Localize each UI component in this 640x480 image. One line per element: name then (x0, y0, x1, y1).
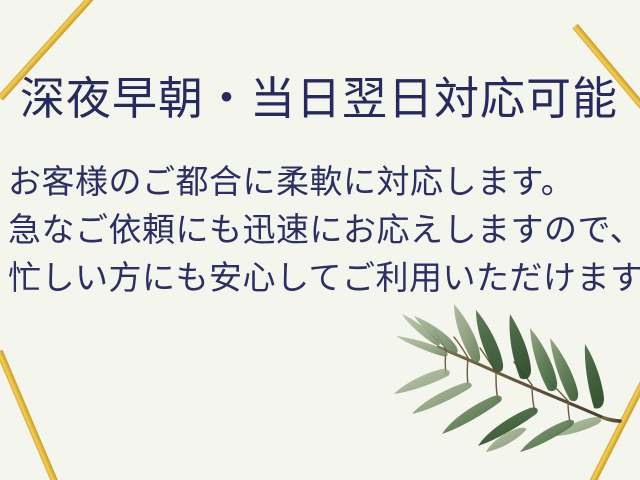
body-line-1: お客様のご都合に柔軟に対応します。 (8, 158, 640, 206)
slide-canvas: 深夜早朝・当日翌日対応可能 お客様のご都合に柔軟に対応します。 急なご依頼にも迅… (0, 0, 640, 480)
gold-stroke-bottom-left (0, 350, 61, 480)
body-line-2: 急なご依頼にも迅速にお応えしますので、 (8, 206, 640, 254)
headline-text: 深夜早朝・当日翌日対応可能 (20, 76, 618, 121)
branch-leaves-upper (396, 304, 604, 409)
olive-branch-illustration (372, 300, 640, 480)
body-text-block: お客様のご都合に柔軟に対応します。 急なご依頼にも迅速にお応えしますので、 忙し… (8, 158, 640, 302)
body-line-3: 忙しい方にも安心してご利用いただけます。 (8, 254, 640, 302)
